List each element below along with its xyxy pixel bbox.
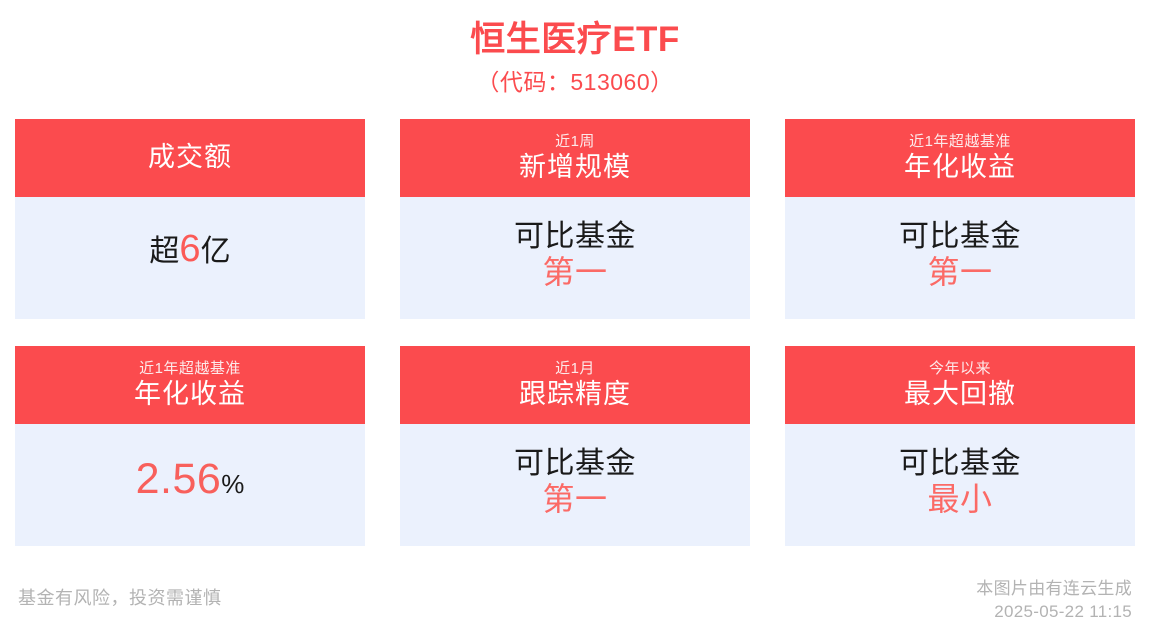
metric-card-grid: 成交额 超6亿 近1周 新增规模 可比基金 第一 近1年超越基准 年化收益 可比…	[15, 119, 1135, 546]
card-subtitle: 近1周	[555, 134, 595, 150]
card-subtitle: 今年以来	[929, 361, 991, 377]
card-value-line1: 可比基金	[899, 221, 1021, 253]
card-value-line2: 第一	[542, 255, 607, 290]
metric-card-turnover[interactable]: 成交额 超6亿	[15, 119, 365, 319]
title-block: 恒生医疗ETF （代码：513060）	[0, 0, 1150, 98]
value-number: 2.56	[136, 455, 222, 503]
card-value-line2: 第一	[542, 482, 607, 517]
card-value-line2: 第一	[927, 255, 992, 290]
value-suffix: 亿	[201, 235, 231, 268]
image-source: 本图片由有连云生成	[976, 578, 1132, 601]
card-title: 新增规模	[519, 153, 631, 181]
card-subtitle: 近1月	[555, 361, 595, 377]
card-value-line1: 可比基金	[514, 221, 636, 253]
card-header: 近1年超越基准 年化收益	[785, 119, 1135, 197]
card-value-line2: 最小	[927, 482, 992, 517]
metric-card-excess-annual-return-value[interactable]: 近1年超越基准 年化收益 2.56%	[15, 346, 365, 546]
metric-card-weekly-inflow[interactable]: 近1周 新增规模 可比基金 第一	[400, 119, 750, 319]
metric-card-tracking-accuracy[interactable]: 近1月 跟踪精度 可比基金 第一	[400, 346, 750, 546]
card-body: 可比基金 第一	[785, 197, 1135, 319]
card-body: 可比基金 第一	[400, 424, 750, 546]
card-body: 可比基金 第一	[400, 197, 750, 319]
card-title: 成交额	[148, 143, 232, 171]
card-header: 近1月 跟踪精度	[400, 346, 750, 424]
metric-card-excess-annual-return-rank[interactable]: 近1年超越基准 年化收益 可比基金 第一	[785, 119, 1135, 319]
card-header: 近1周 新增规模	[400, 119, 750, 197]
card-body: 可比基金 最小	[785, 424, 1135, 546]
card-title: 跟踪精度	[519, 380, 631, 408]
card-subtitle: 近1年超越基准	[909, 134, 1011, 150]
card-value-line1: 可比基金	[899, 448, 1021, 480]
card-title: 年化收益	[904, 153, 1016, 181]
card-subtitle: 近1年超越基准	[139, 361, 241, 377]
card-body: 2.56%	[15, 424, 365, 546]
page-title: 恒生医疗ETF	[0, 18, 1150, 62]
card-header: 成交额	[15, 119, 365, 197]
card-title: 年化收益	[134, 380, 246, 408]
footer-attribution: 本图片由有连云生成 2025-05-22 11:15	[976, 570, 1132, 624]
card-value: 2.56%	[136, 456, 245, 502]
generated-timestamp: 2025-05-22 11:15	[976, 601, 1132, 624]
footer: 基金有风险，投资需谨慎 本图片由有连云生成 2025-05-22 11:15	[0, 570, 1150, 632]
value-unit: %	[221, 469, 244, 499]
value-number: 6	[179, 228, 200, 270]
card-header: 近1年超越基准 年化收益	[15, 346, 365, 424]
fund-code: （代码：513060）	[0, 68, 1150, 98]
card-header: 今年以来 最大回撤	[785, 346, 1135, 424]
risk-disclaimer: 基金有风险，投资需谨慎	[18, 570, 222, 610]
card-body: 超6亿	[15, 197, 365, 319]
metric-card-max-drawdown[interactable]: 今年以来 最大回撤 可比基金 最小	[785, 346, 1135, 546]
card-value: 超6亿	[149, 229, 230, 270]
card-value-line1: 可比基金	[514, 448, 636, 480]
value-prefix: 超	[149, 235, 179, 268]
card-title: 最大回撤	[904, 380, 1016, 408]
